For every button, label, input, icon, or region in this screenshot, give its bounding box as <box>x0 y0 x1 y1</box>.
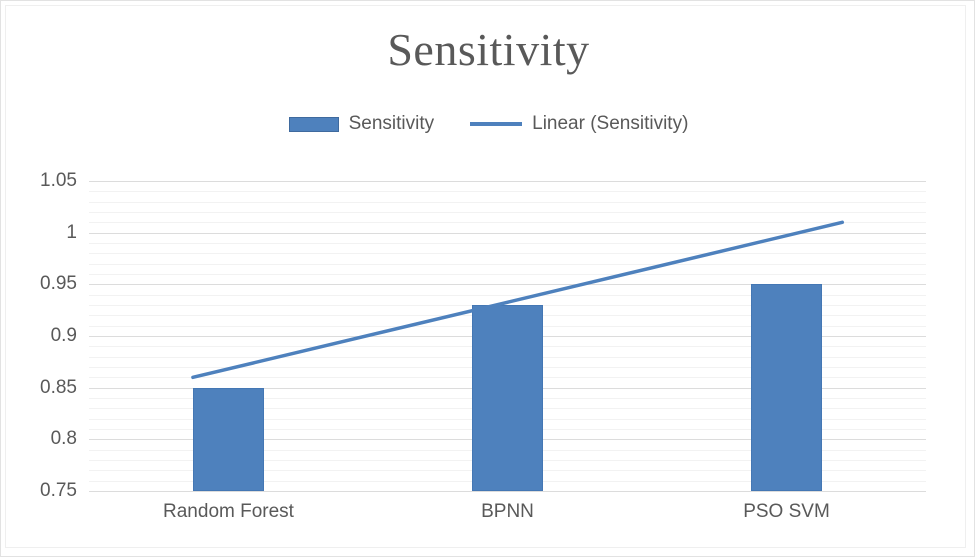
legend-line-swatch-icon <box>470 122 522 126</box>
y-axis: 0.750.80.850.90.9511.05 <box>1 181 77 491</box>
legend-item-sensitivity[interactable]: Sensitivity <box>289 113 435 135</box>
chart-container: Sensitivity Sensitivity Linear (Sensitiv… <box>0 0 975 557</box>
legend-item-linear-sensitivity[interactable]: Linear (Sensitivity) <box>470 113 688 135</box>
y-axis-tick-label: 0.9 <box>51 325 77 347</box>
x-axis-tick-label: PSO SVM <box>743 501 830 523</box>
chart-title: Sensitivity <box>1 21 975 79</box>
chart-legend: Sensitivity Linear (Sensitivity) <box>1 113 975 135</box>
x-axis: Random ForestBPNNPSO SVM <box>89 501 926 535</box>
legend-bar-swatch-icon <box>289 117 339 132</box>
y-axis-tick-label: 1 <box>66 222 77 244</box>
x-axis-tick-label: BPNN <box>481 501 534 523</box>
legend-item-label: Linear (Sensitivity) <box>532 113 688 135</box>
trendline-linear-sensitivity <box>89 181 926 491</box>
legend-item-label: Sensitivity <box>349 113 435 135</box>
y-axis-tick-label: 0.95 <box>40 273 77 295</box>
plot-area <box>89 181 926 491</box>
x-axis-tick-label: Random Forest <box>163 501 294 523</box>
y-axis-tick-label: 1.05 <box>40 170 77 192</box>
y-axis-tick-label: 0.75 <box>40 480 77 502</box>
y-axis-tick-label: 0.85 <box>40 377 77 399</box>
gridline-major <box>89 491 926 492</box>
y-axis-tick-label: 0.8 <box>51 428 77 450</box>
trendline-path <box>193 222 842 377</box>
trendline-svg <box>89 181 926 491</box>
